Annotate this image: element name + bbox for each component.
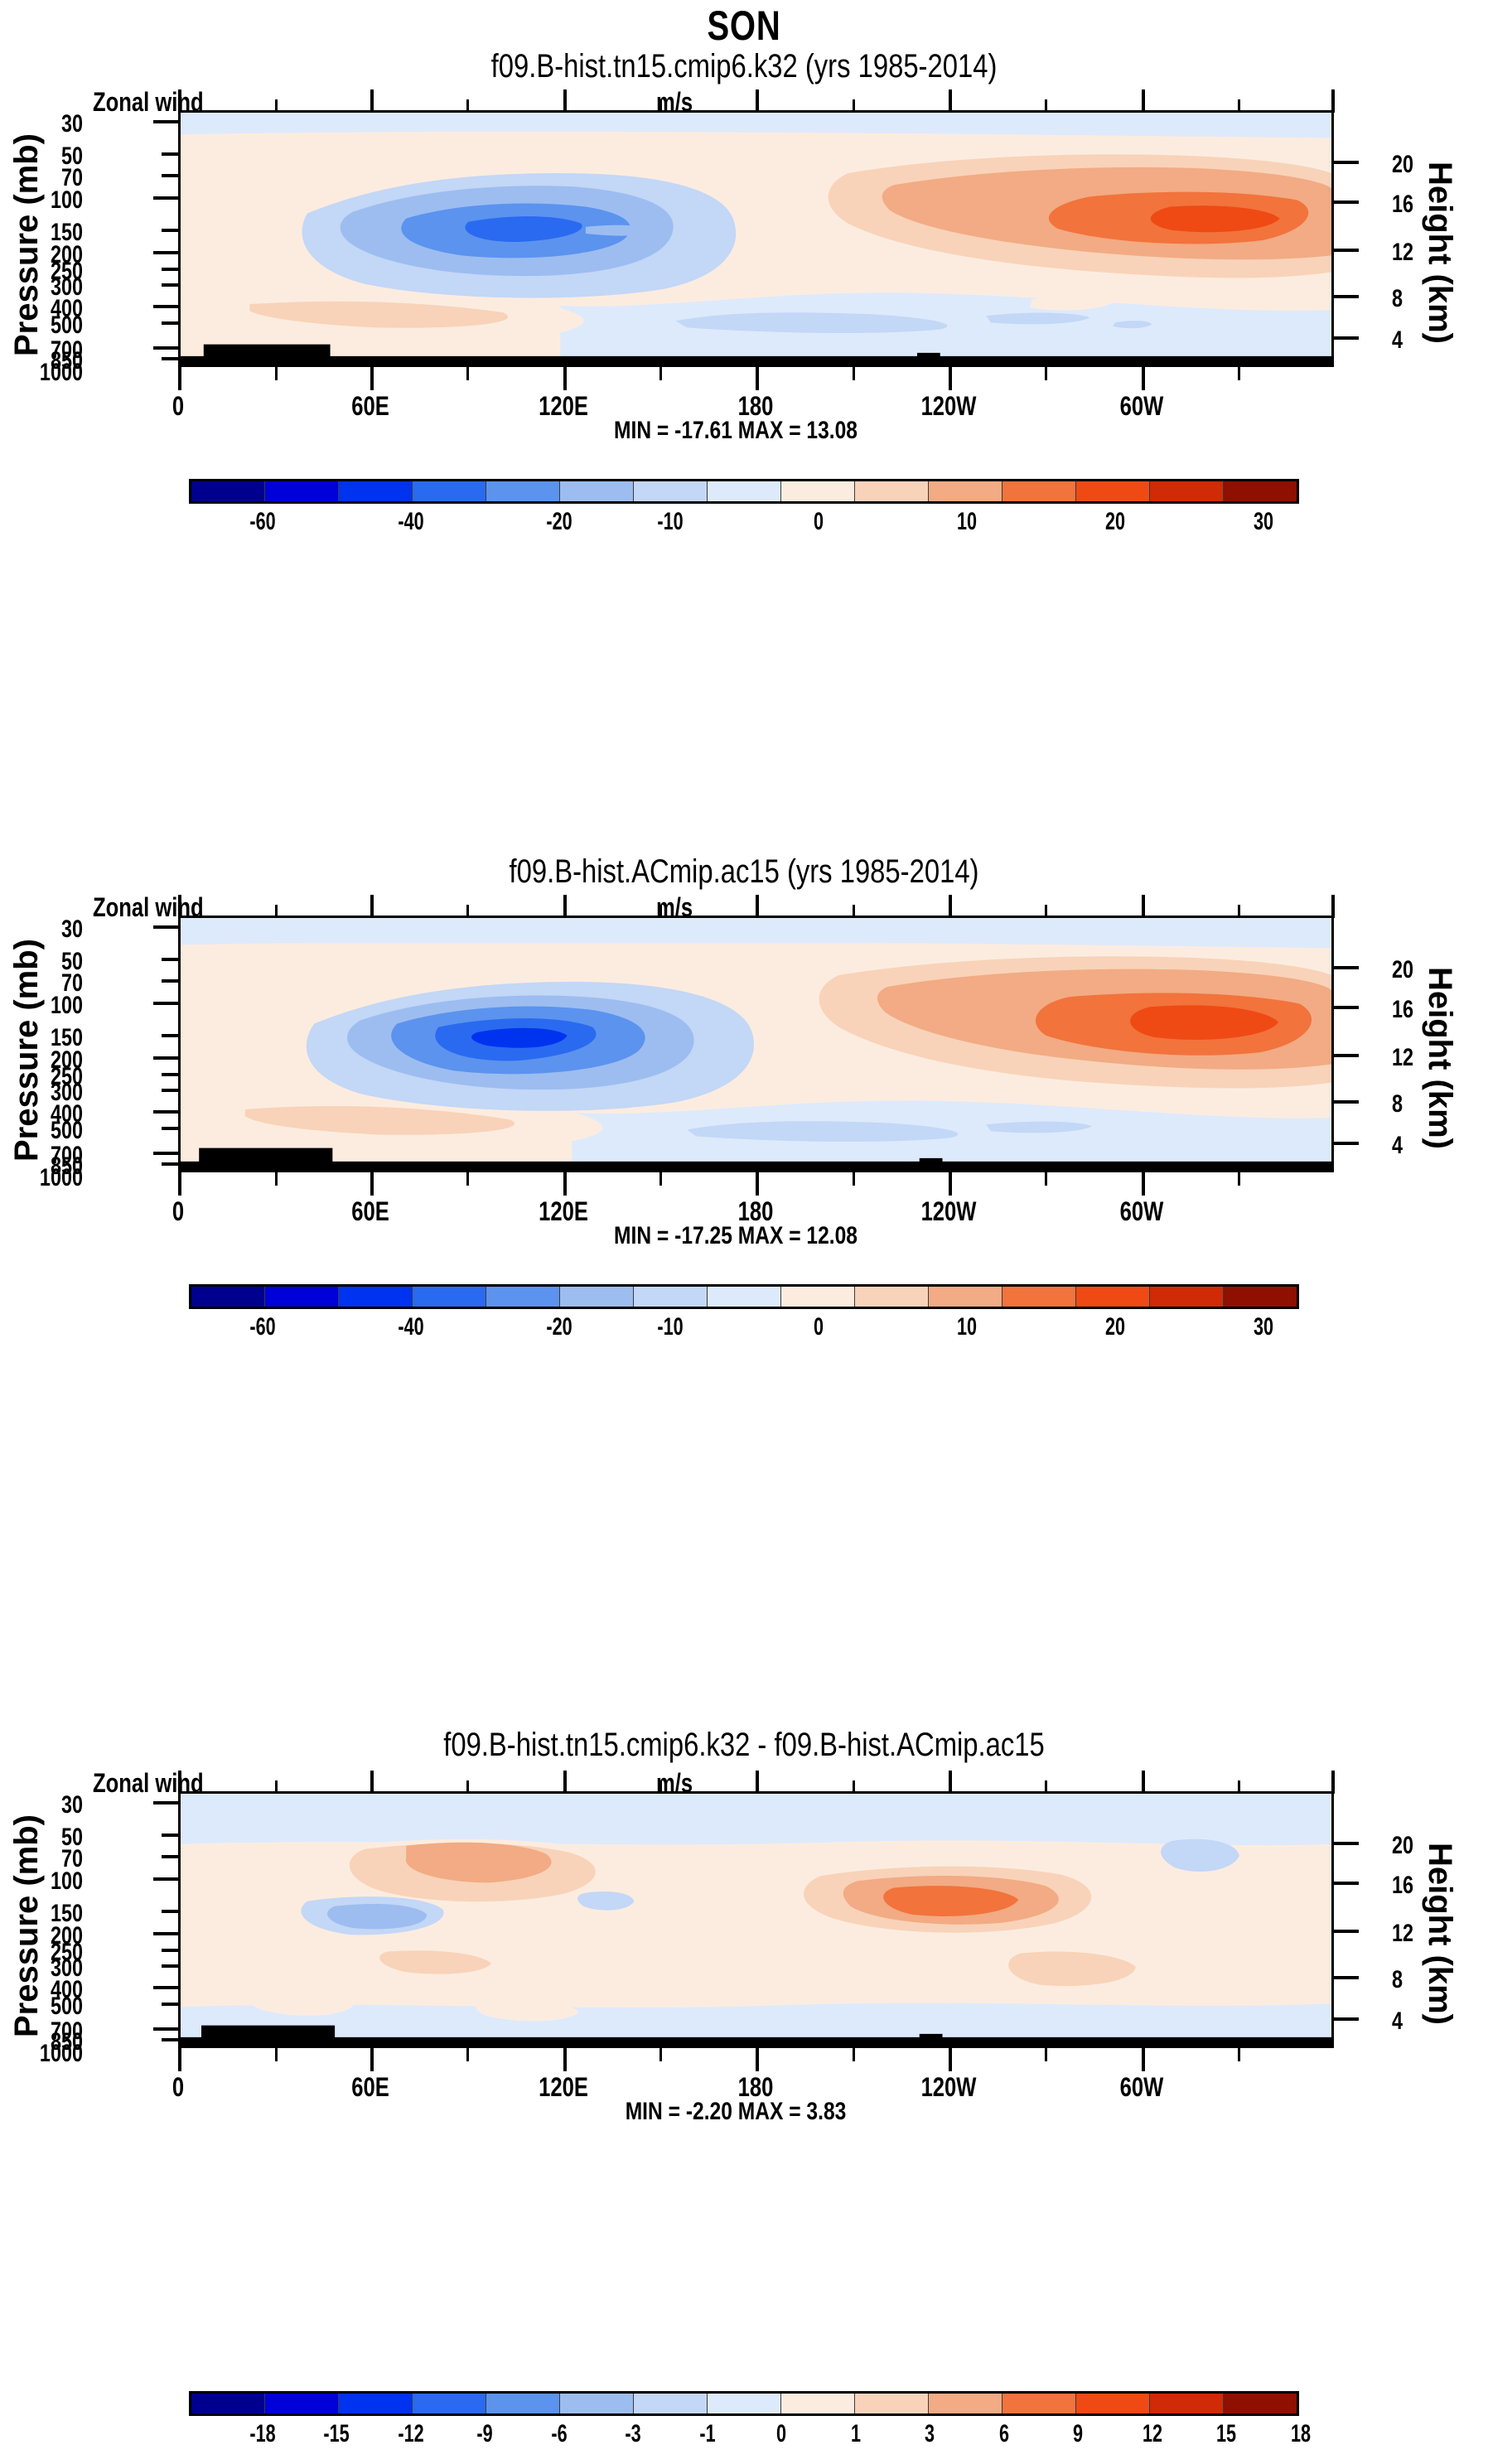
axis-tick	[1334, 1006, 1359, 1009]
axis-tick	[178, 89, 181, 113]
axis-tick	[178, 1771, 181, 1794]
axis-tick	[162, 321, 178, 325]
axis-tick	[563, 367, 567, 390]
xtick-label: 120E	[539, 391, 588, 422]
axis-tick	[756, 895, 759, 918]
axis-tick	[275, 905, 278, 918]
panel-1: f09.B-hist.tn15.cmip6.k32 (yrs 1985-2014…	[0, 0, 1488, 878]
axis-tick	[370, 367, 374, 390]
axis-tick	[153, 305, 178, 308]
panel-3-colorbar	[189, 2391, 1299, 2416]
axis-tick	[756, 1771, 759, 1794]
axis-tick	[162, 1855, 178, 1858]
ytick-label: 30	[18, 110, 83, 138]
colorbar-tick-label: 0	[814, 508, 824, 536]
axis-tick	[563, 895, 567, 918]
axis-tick	[466, 905, 469, 918]
y2tick-label: 20	[1392, 956, 1450, 984]
ytick-label: 100	[18, 992, 83, 1020]
y2tick-label: 4	[1392, 326, 1450, 355]
colorbar-tick-label: -12	[398, 2420, 423, 2448]
colorbar-tick-label: -40	[398, 1313, 423, 1341]
panel-2-colorbar	[189, 1284, 1299, 1309]
axis-tick	[949, 89, 952, 113]
axis-tick	[153, 1110, 178, 1114]
axis-tick	[1045, 367, 1047, 380]
colorbar-tick-label: -20	[546, 508, 572, 536]
axis-tick	[162, 979, 178, 983]
colorbar-tick-label: 12	[1143, 2420, 1162, 2448]
axis-tick	[1334, 966, 1359, 969]
colorbar-tick-label: -1	[699, 2420, 715, 2448]
axis-tick	[1238, 1172, 1240, 1186]
axis-tick	[162, 2003, 178, 2006]
axis-tick	[153, 346, 178, 350]
y2tick-label: 20	[1392, 151, 1450, 179]
colorbar-tick-label: 10	[957, 508, 977, 536]
ytick-label: 500	[18, 1993, 83, 2021]
axis-tick	[162, 152, 178, 156]
axis-tick	[162, 174, 178, 177]
axis-tick	[853, 367, 855, 380]
ytick-label: 100	[18, 186, 83, 215]
axis-tick	[466, 99, 469, 113]
y2tick-label: 8	[1392, 1966, 1450, 1994]
axis-tick	[756, 1172, 759, 1196]
axis-tick	[1238, 905, 1240, 918]
panel-2-plot-area	[178, 916, 1334, 1172]
colorbar-tick-label: 20	[1105, 1313, 1125, 1341]
axis-tick	[853, 2048, 855, 2061]
colorbar-tick-label: 6	[999, 2420, 1009, 2448]
axis-tick	[162, 1073, 178, 1076]
axis-tick	[1331, 1771, 1335, 1794]
panel-1-colorbar	[189, 479, 1299, 504]
axis-tick	[563, 2048, 567, 2071]
colorbar-tick-label: 20	[1105, 508, 1125, 536]
y2tick-label: 8	[1392, 1090, 1450, 1118]
axis-tick	[1238, 99, 1240, 113]
axis-tick	[275, 2048, 278, 2061]
axis-tick	[1334, 1930, 1359, 1933]
colorbar-tick-label: 10	[957, 1313, 977, 1341]
axis-tick	[1142, 1771, 1145, 1794]
axis-tick	[1045, 2048, 1047, 2061]
colorbar-tick-label: -3	[625, 2420, 640, 2448]
axis-tick	[370, 1172, 374, 1196]
panel-1-contour-fill	[181, 113, 1331, 365]
colorbar-tick-label: -18	[249, 2420, 275, 2448]
axis-tick	[949, 895, 952, 918]
xtick-label: 120E	[539, 2072, 588, 2103]
axis-tick	[178, 1172, 181, 1196]
axis-tick	[162, 1127, 178, 1130]
axis-tick	[1045, 99, 1047, 113]
axis-tick	[153, 1877, 178, 1881]
axis-tick	[659, 367, 662, 380]
panel-3: f09.B-hist.tn15.cmip6.k32 - f09.B-hist.A…	[0, 1611, 1488, 2464]
axis-tick	[853, 99, 855, 113]
axis-tick	[153, 1056, 178, 1060]
colorbar-tick-label: -10	[657, 508, 683, 536]
axis-tick	[1334, 1882, 1359, 1885]
y2tick-label: 12	[1392, 1920, 1450, 1948]
colorbar-tick-label: -60	[249, 1313, 275, 1341]
axis-tick	[1142, 895, 1145, 918]
y2tick-label: 4	[1392, 1132, 1450, 1160]
axis-tick	[1334, 201, 1359, 204]
axis-tick	[162, 1089, 178, 1092]
axis-tick	[162, 1834, 178, 1837]
axis-tick	[275, 1780, 278, 1794]
axis-tick	[1334, 161, 1359, 164]
axis-tick	[949, 367, 952, 390]
y2tick-label: 20	[1392, 1832, 1450, 1860]
colorbar-tick-label: 18	[1291, 2420, 1311, 2448]
axis-tick	[659, 1172, 662, 1186]
axis-tick	[178, 895, 181, 918]
y2tick-label: 16	[1392, 191, 1450, 219]
axis-tick	[1334, 295, 1359, 298]
ytick-label: 500	[18, 1117, 83, 1145]
axis-tick	[1334, 1054, 1359, 1057]
axis-tick	[756, 89, 759, 113]
axis-tick	[162, 283, 178, 287]
axis-tick	[1334, 1100, 1359, 1104]
axis-tick	[1334, 2017, 1359, 2021]
panel-3-contour-fill	[181, 1794, 1331, 2046]
panel-3-title: f09.B-hist.tn15.cmip6.k32 - f09.B-hist.A…	[134, 1727, 1355, 1764]
axis-tick	[153, 251, 178, 254]
axis-tick	[659, 1780, 662, 1794]
axis-tick	[659, 99, 662, 113]
axis-tick	[1045, 905, 1047, 918]
axis-tick	[275, 367, 278, 380]
axis-tick	[853, 1172, 855, 1186]
axis-tick	[1334, 1142, 1359, 1145]
axis-tick	[1331, 895, 1335, 918]
axis-tick	[756, 2048, 759, 2071]
colorbar-tick-label: 1	[851, 2420, 861, 2448]
colorbar-tick-label: -40	[398, 508, 423, 536]
ytick-label: 30	[18, 1791, 83, 1819]
axis-tick	[1142, 89, 1145, 113]
axis-tick	[853, 905, 855, 918]
axis-tick	[162, 1162, 178, 1166]
axis-tick	[153, 1152, 178, 1155]
colorbar-tick-label: 30	[1254, 508, 1273, 536]
axis-tick	[466, 1780, 469, 1794]
axis-tick	[563, 89, 567, 113]
axis-tick	[1334, 249, 1359, 252]
colorbar-tick-label: 9	[1073, 2420, 1083, 2448]
panel-2-contour-fill	[181, 918, 1331, 1170]
axis-tick	[370, 89, 374, 113]
axis-tick	[563, 1771, 567, 1794]
axis-tick	[853, 1780, 855, 1794]
y2tick-label: 4	[1392, 2007, 1450, 2036]
panel-1-title: f09.B-hist.tn15.cmip6.k32 (yrs 1985-2014…	[134, 48, 1355, 85]
y2tick-label: 16	[1392, 1872, 1450, 1900]
y2tick-label: 12	[1392, 1044, 1450, 1072]
panel-2-title: f09.B-hist.ACmip.ac15 (yrs 1985-2014)	[134, 853, 1355, 891]
axis-tick	[659, 905, 662, 918]
axis-tick	[466, 1172, 469, 1186]
ytick-label: 1000	[18, 2040, 83, 2068]
axis-tick	[1238, 367, 1240, 380]
xtick-label: 60E	[351, 2072, 389, 2103]
ytick-label: 1000	[18, 1164, 83, 1192]
xtick-label: 60W	[1120, 391, 1164, 422]
axis-tick	[370, 2048, 374, 2071]
axis-tick	[949, 1172, 952, 1196]
xtick-label: 60W	[1120, 1196, 1164, 1227]
axis-tick	[153, 1932, 178, 1935]
colorbar-tick-label: 0	[814, 1313, 824, 1341]
axis-tick	[563, 1172, 567, 1196]
axis-tick	[756, 367, 759, 390]
colorbar-tick-label: -10	[657, 1313, 683, 1341]
xtick-label: 60E	[351, 391, 389, 422]
xtick-label: 120W	[921, 2072, 977, 2103]
axis-tick	[275, 1172, 278, 1186]
colorbar-tick-label: -6	[551, 2420, 567, 2448]
colorbar-tick-label: 15	[1216, 2420, 1236, 2448]
colorbar-tick-label: -20	[546, 1313, 572, 1341]
axis-tick	[162, 1964, 178, 1968]
xtick-label: 120W	[921, 1196, 977, 1227]
ytick-label: 100	[18, 1867, 83, 1896]
axis-tick	[153, 1801, 178, 1805]
axis-tick	[1334, 1976, 1359, 1979]
axis-tick	[1331, 89, 1335, 113]
xtick-label: 0	[172, 1196, 184, 1227]
axis-tick	[153, 2027, 178, 2031]
y2tick-label: 12	[1392, 239, 1450, 267]
xtick-label: 60E	[351, 1196, 389, 1227]
axis-tick	[949, 1771, 952, 1794]
xtick-label: 60W	[1120, 2072, 1164, 2103]
axis-tick	[162, 229, 178, 232]
axis-tick	[153, 120, 178, 123]
axis-tick	[153, 196, 178, 200]
axis-tick	[370, 895, 374, 918]
axis-tick	[1142, 1172, 1145, 1196]
panel-2-minmax: MIN = -17.25 MAX = 12.08	[614, 1222, 858, 1250]
xtick-label: 120W	[921, 391, 977, 422]
axis-tick	[153, 1986, 178, 1989]
xtick-label: 0	[172, 2072, 184, 2103]
panel-2: f09.B-hist.ACmip.ac15 (yrs 1985-2014) Zo…	[0, 805, 1488, 1684]
colorbar-tick-label: 3	[925, 2420, 935, 2448]
axis-tick	[659, 2048, 662, 2061]
panel-3-plot-area	[178, 1791, 1334, 2048]
axis-tick	[153, 1002, 178, 1005]
colorbar-tick-label: -15	[323, 2420, 349, 2448]
panel-3-minmax: MIN = -2.20 MAX = 3.83	[626, 2098, 847, 2126]
axis-tick	[162, 958, 178, 961]
axis-tick	[162, 1910, 178, 1913]
colorbar-tick-label: 0	[776, 2420, 786, 2448]
colorbar-tick-label: -60	[249, 508, 275, 536]
y2tick-label: 8	[1392, 285, 1450, 313]
xtick-label: 0	[172, 391, 184, 422]
axis-tick	[466, 2048, 469, 2061]
colorbar-tick-label: -9	[476, 2420, 492, 2448]
axis-tick	[1334, 336, 1359, 340]
panel-1-minmax: MIN = -17.61 MAX = 13.08	[614, 417, 858, 445]
axis-tick	[1142, 2048, 1145, 2071]
panel-1-plot-area	[178, 110, 1334, 367]
axis-tick	[1045, 1780, 1047, 1794]
axis-tick	[153, 925, 178, 929]
axis-tick	[162, 1949, 178, 1952]
axis-tick	[370, 1771, 374, 1794]
colorbar-tick-label: 30	[1254, 1313, 1273, 1341]
axis-tick	[178, 367, 181, 390]
axis-tick	[1238, 2048, 1240, 2061]
ytick-label: 1000	[18, 359, 83, 387]
axis-tick	[949, 2048, 952, 2071]
axis-tick	[1238, 1780, 1240, 1794]
axis-tick	[1142, 367, 1145, 390]
axis-tick	[178, 2048, 181, 2071]
axis-tick	[275, 99, 278, 113]
axis-tick	[162, 268, 178, 271]
axis-tick	[1045, 1172, 1047, 1186]
axis-tick	[1334, 1842, 1359, 1845]
ytick-label: 500	[18, 312, 83, 340]
axis-tick	[162, 2038, 178, 2041]
xtick-label: 120E	[539, 1196, 588, 1227]
axis-tick	[466, 367, 469, 380]
ytick-label: 30	[18, 916, 83, 944]
axis-tick	[162, 1034, 178, 1037]
axis-tick	[162, 357, 178, 360]
y2tick-label: 16	[1392, 996, 1450, 1024]
